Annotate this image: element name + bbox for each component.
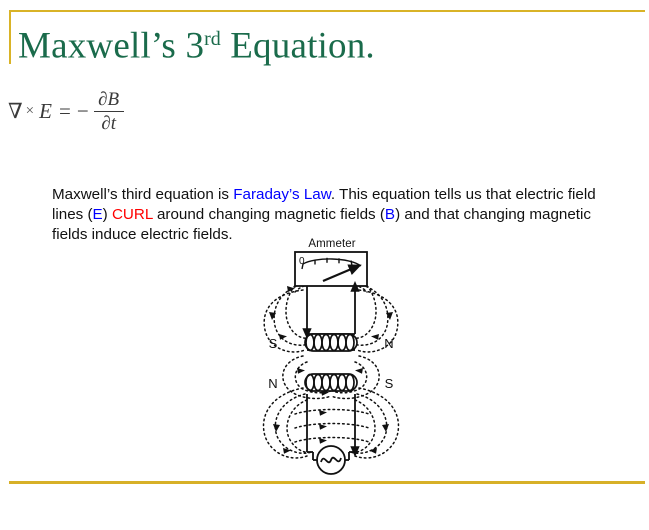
minus-symbol: − [76, 99, 92, 124]
title-tail: Equation. [221, 25, 375, 66]
field-line-top-right-2 [353, 284, 388, 345]
ammeter-tick-4 [351, 261, 352, 266]
ammeter-widget: 0 [295, 252, 367, 286]
induction-diagram-svg: 0 [243, 238, 421, 476]
arrowhead-12 [382, 424, 389, 432]
top-coil-left-pole-label: S [269, 336, 278, 351]
field-lines-group [264, 276, 399, 458]
fraction-numerator: ∂B [94, 90, 123, 111]
body-text-part-6: ) and [395, 206, 430, 223]
fraction-denominator: ∂t [97, 112, 120, 134]
title-ordinal-suffix: rd [204, 28, 221, 50]
ac-source [313, 446, 349, 474]
body-text-part-2: . This equation tells us that [331, 186, 511, 203]
bottom-coil-left-pole-label: N [268, 376, 277, 391]
slide-title: Maxwell’s 3rd Equation. [18, 17, 375, 68]
induction-figure: Ammeter [243, 238, 421, 476]
field-line-bottom-right-1 [355, 388, 398, 458]
maxwell-third-equation: ∇ × E = − ∂B ∂t [8, 90, 126, 134]
arrowhead-8 [297, 368, 305, 374]
nabla-symbol: ∇ [8, 99, 23, 124]
electric-field-symbol: E [37, 99, 54, 124]
ammeter-zero-label: 0 [299, 256, 305, 267]
curl-highlight: CURL [112, 206, 153, 223]
magnetic-field-highlight: B [385, 206, 395, 223]
body-paragraph: Maxwell’s third equation is Faraday’s La… [52, 185, 614, 245]
top-coil-right-pole-label: N [384, 336, 393, 351]
ammeter-body [295, 252, 367, 286]
top-accent-rule [9, 10, 645, 12]
arrowhead-17 [369, 448, 377, 454]
arrowhead-7 [371, 334, 379, 340]
body-text-part-5: around changing magnetic fields ( [153, 206, 385, 223]
ammeter-tick-0 [302, 264, 303, 269]
arrowhead-13 [319, 410, 327, 416]
body-text-part-4: ) [103, 206, 112, 223]
ammeter-label: Ammeter [243, 238, 421, 250]
arrowhead-11 [273, 424, 280, 432]
partial-derivative-fraction: ∂B ∂t [92, 90, 126, 134]
electric-field-highlight: E [93, 206, 103, 223]
arrowhead-9 [355, 368, 363, 374]
bottom-coil-right-pole-label: S [385, 376, 394, 391]
field-line-bottom-left-1 [264, 388, 307, 458]
arrowhead-15 [319, 438, 327, 444]
left-accent-rule [9, 10, 11, 64]
bottom-coil [305, 374, 357, 391]
bottom-accent-rule [9, 481, 645, 484]
arrowhead-14 [319, 424, 327, 430]
equals-symbol: = [54, 99, 76, 124]
slide-canvas: Maxwell’s 3rd Equation. ∇ × E = − ∂B ∂t … [0, 0, 649, 530]
body-text-part-1: Maxwell’s third equation is [52, 186, 233, 203]
faradays-law-highlight: Faraday’s Law [233, 186, 331, 203]
cross-product-symbol: × [23, 103, 37, 120]
top-coil [305, 334, 357, 351]
circuit-wires [307, 286, 355, 452]
title-main: Maxwell’s 3 [18, 25, 204, 66]
